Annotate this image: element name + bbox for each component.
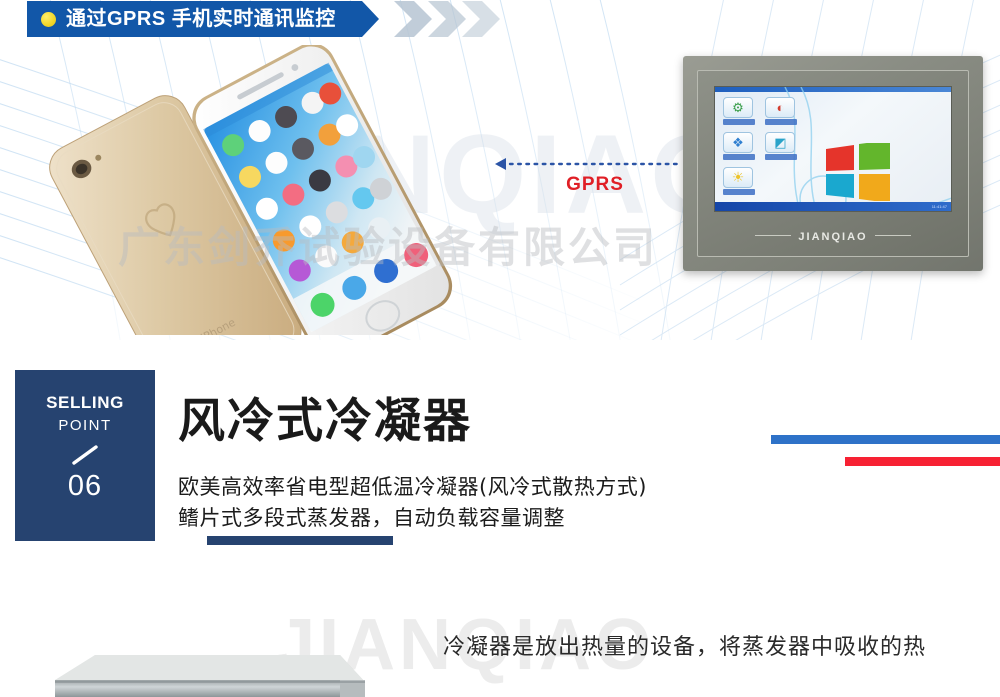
gprs-label: GPRS bbox=[495, 174, 695, 196]
hmi-icon-4[interactable]: ◩ bbox=[765, 132, 797, 162]
feature-underline bbox=[207, 536, 393, 545]
hmi-desktop-icons[interactable]: ⚙ ◐ ❖ ◩ ☀ ☸ bbox=[723, 97, 809, 212]
smartphone-mockup-image: iPhone bbox=[40, 45, 460, 335]
point-label: POINT bbox=[58, 418, 111, 433]
hmi-touch-panel-image: ⚙ ◐ ❖ ◩ ☀ ☸ 11:41:47 bbox=[683, 56, 983, 271]
accent-bar-red bbox=[845, 457, 1000, 466]
accent-bar-blue bbox=[771, 435, 1000, 444]
feature-subline-1: 欧美高效率省电型超低温冷凝器(风冷式散热方式) bbox=[178, 472, 647, 503]
selling-point-badge: SELLING POINT 06 bbox=[15, 370, 155, 541]
header-banner: 通过GPRS 手机实时通讯监控 bbox=[27, 1, 362, 37]
feature-headline: 风冷式冷凝器 bbox=[178, 398, 472, 445]
body-paragraph: 冷凝器是放出热量的设备，将蒸发器中吸收的热 bbox=[443, 629, 926, 661]
hmi-screen: ⚙ ◐ ❖ ◩ ☀ ☸ 11:41:47 bbox=[714, 86, 952, 212]
windows-logo-icon bbox=[825, 143, 891, 201]
feature-subline-2: 鳍片式多段式蒸发器，自动负载容量调整 bbox=[178, 503, 647, 534]
gprs-connection-indicator: GPRS bbox=[495, 152, 695, 204]
hmi-icon-5[interactable]: ☀ bbox=[723, 167, 755, 197]
hmi-icon-1[interactable]: ⚙ bbox=[723, 97, 755, 127]
product-detail-page: JIANQIAO bbox=[0, 0, 1000, 697]
selling-label: SELLING bbox=[46, 394, 124, 411]
bottom-description-section: JIA JIANQIAO 冷凝器是放出热量的设备，将蒸发器中吸收的热 bbox=[0, 600, 1000, 697]
hmi-brand-label: JIANQIAO bbox=[698, 231, 968, 243]
selling-point-number: 06 bbox=[68, 472, 102, 501]
hmi-status-bar: 11:41:47 bbox=[715, 202, 951, 211]
chevron-arrows-decoration bbox=[394, 1, 514, 37]
hmi-bezel-inner: ⚙ ◐ ❖ ◩ ☀ ☸ 11:41:47 bbox=[697, 70, 969, 257]
header-banner-text: 通过GPRS 手机实时通讯监控 bbox=[66, 1, 336, 37]
hmi-clock: 11:41:47 bbox=[932, 202, 947, 211]
slash-divider-icon bbox=[70, 444, 100, 466]
feature-subline: 欧美高效率省电型超低温冷凝器(风冷式散热方式) 鳍片式多段式蒸发器，自动负载容量… bbox=[178, 472, 647, 534]
watermark-company-name: 广东剑乔试验设备有限公司 bbox=[118, 214, 658, 275]
top-hero-section: JIANQIAO bbox=[0, 0, 1000, 352]
hmi-icon-2[interactable]: ◐ bbox=[765, 97, 797, 127]
hmi-icon-3[interactable]: ❖ bbox=[723, 132, 755, 162]
test-chamber-equipment-image bbox=[0, 650, 390, 697]
yellow-dot-icon bbox=[41, 12, 56, 27]
dotted-arrow-line-icon bbox=[495, 158, 695, 170]
